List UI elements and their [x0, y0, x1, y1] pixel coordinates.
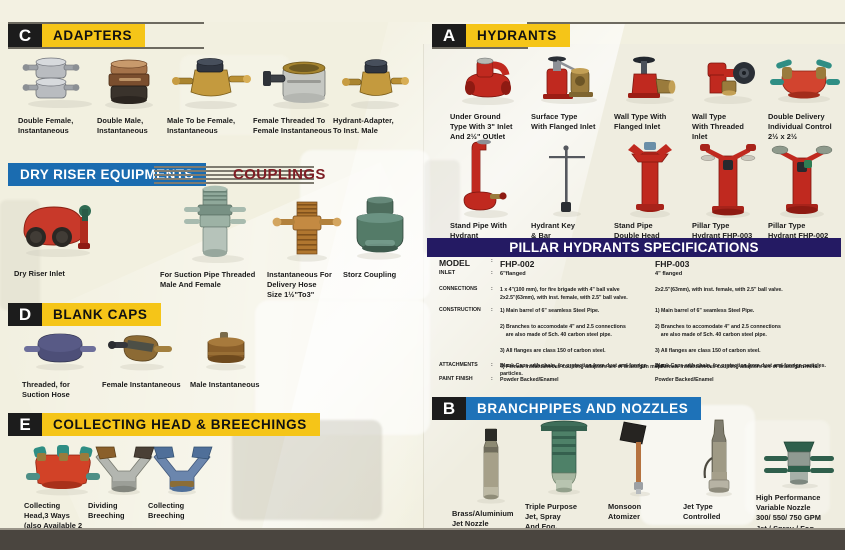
product-male-instantaneous-cap: Male Instantaneous — [190, 330, 270, 390]
product-caption-line: Delivery Hose — [267, 280, 347, 290]
section-letter-b: B — [432, 397, 466, 420]
section-header-blank-caps: D BLANK CAPS — [8, 303, 161, 326]
spec-key: INLET — [439, 270, 491, 279]
product-caption-line: Wall Type With — [614, 112, 692, 122]
coupling-suction-threaded-art — [160, 185, 278, 263]
section-letter-d: D — [8, 303, 42, 326]
spec-key: PAINT FINISH — [439, 376, 491, 384]
spec-colon: : — [491, 270, 500, 279]
hydrant-standpipe-double-art — [614, 138, 692, 218]
spec-right-connections: 2x2.5"(63mm), with inst. female, with 2.… — [655, 286, 783, 294]
hydrant-pillar-003-art — [692, 138, 770, 218]
product-dry-riser-inlet: Dry Riser Inlet — [14, 195, 109, 279]
section-letter-a: A — [432, 24, 466, 47]
adapters-bottom-rule — [8, 47, 204, 49]
nozzle-triple-purpose-art — [525, 418, 607, 496]
product-caption-line: Individual Control — [768, 122, 845, 132]
product-brass-aluminium-jet-nozzle: Brass/Aluminium Jet Nozzle — [452, 425, 534, 529]
product-hydrant-adapter-to-inst-male: Hydrant-Adapter, To Inst. Male — [333, 58, 418, 136]
section-letter-e: E — [8, 413, 42, 436]
hydrants-bottom-rule — [432, 47, 528, 49]
hydrant-key-bar-art — [531, 138, 611, 218]
dry-riser-inlet-art — [14, 195, 109, 257]
product-double-delivery-individual-control: Double Delivery Individual Control 2½ x … — [768, 55, 845, 143]
product-stand-pipe-double-head: Stand Pipe Double Head — [614, 138, 692, 241]
product-storz-coupling: Storz Coupling — [343, 198, 418, 280]
section-label-hydrants: HYDRANTS — [466, 24, 570, 47]
top-margin — [0, 0, 845, 22]
spec-right-inlet: 4" flanged — [655, 270, 682, 279]
product-caption-line: 300/ 550/ 750 GPM — [756, 513, 842, 523]
product-caption-line: Collecting — [148, 501, 224, 511]
product-caption-line: With Threaded — [692, 122, 770, 132]
spec-colon: : — [491, 286, 500, 302]
product-caption-line: Brass/Aluminium — [452, 509, 534, 519]
section-letter-c: C — [8, 24, 42, 47]
product-caption-line: For Suction Pipe Threaded — [160, 270, 278, 280]
product-caption-line: Double Delivery — [768, 112, 845, 122]
adapter-hydrant-art — [333, 58, 418, 110]
product-caption-line: Size 1½"To3" — [267, 290, 347, 300]
product-caption-line: Female Instantaneous — [102, 380, 182, 390]
spec-banner-title: PILLAR HYDRANTS SPECIFICATIONS — [509, 240, 759, 255]
product-caption-line: High Performance — [756, 493, 842, 503]
hydrant-underground-art — [450, 55, 530, 105]
section-header-collecting: E COLLECTING HEAD & BREECHINGS — [8, 413, 320, 436]
spec-row-paint-finish: PAINT FINISH : Powder Backed/Enamel — [439, 376, 559, 384]
spec-banner: PILLAR HYDRANTS SPECIFICATIONS — [427, 238, 841, 257]
product-caption-line: Atomizer — [608, 512, 683, 522]
product-caption-line: Instantaneous For — [267, 270, 347, 280]
blank-cap-female-art — [102, 330, 182, 370]
section-label-blank-caps: BLANK CAPS — [42, 303, 161, 326]
product-surface-type-flanged-inlet: Surface Type With Flanged Inlet — [531, 55, 613, 132]
nozzle-high-performance-art — [756, 440, 842, 488]
product-caption-line: Storz Coupling — [343, 270, 418, 280]
product-double-male-instantaneous: Double Male, Instantaneous — [97, 58, 177, 136]
nozzle-jet-controlled-art — [683, 418, 761, 496]
hydrant-wall-threaded-art — [692, 55, 770, 105]
product-female-instantaneous-cap: Female Instantaneous — [102, 330, 182, 390]
nozzle-brass-jet-art — [452, 425, 534, 503]
product-caption-line: Stand Pipe — [614, 221, 692, 231]
product-double-female-instantaneous: Double Female, Instantaneous — [18, 58, 98, 136]
nozzle-monsoon-atomizer-art — [608, 418, 683, 496]
adapter-double-female-art — [18, 58, 98, 110]
product-threaded-for-suction-hose: Threaded, for Suction Hose — [22, 330, 102, 400]
coupling-instantaneous-art — [267, 200, 347, 262]
hydrants-top-rule — [528, 22, 845, 24]
product-caption-line: Male Instantaneous — [190, 380, 270, 390]
product-caption-line: Wall Type — [692, 112, 770, 122]
product-caption-line: Jet Type — [683, 502, 761, 512]
product-wall-type-threaded-inlet: Wall Type With Threaded Inlet — [692, 55, 770, 143]
product-caption-line: Surface Type — [531, 112, 613, 122]
hydrant-surface-art — [531, 55, 613, 105]
product-caption-line: Male And Female — [160, 280, 278, 290]
blank-cap-male-art — [190, 330, 270, 370]
product-wall-type-flanged-inlet: Wall Type With Flanged Inlet — [614, 55, 692, 132]
hydrant-double-delivery-art — [768, 55, 845, 105]
product-caption-line: Flanged Inlet — [614, 122, 692, 132]
product-caption-line: Variable Nozzle — [756, 503, 842, 513]
product-caption-line: Jet, Spray — [525, 512, 607, 522]
product-caption-line: Instantaneous — [167, 126, 257, 136]
section-label-adapters: ADAPTERS — [42, 24, 145, 47]
product-caption-line: Pillar Type — [768, 221, 845, 231]
product-collecting-breeching: Collecting Breeching — [148, 443, 224, 521]
product-caption-line: Monsoon — [608, 502, 683, 512]
hydrant-wall-flanged-art — [614, 55, 692, 105]
product-caption-line: Pillar Type — [692, 221, 770, 231]
product-caption-line: Double Male, — [97, 116, 177, 126]
adapter-double-male-art — [97, 58, 177, 110]
section-label-branchpipes: BRANCHPIPES AND NOZZLES — [466, 397, 701, 420]
spec-right-paint-finish: Powder Backed/Enamel — [655, 376, 714, 384]
product-caption-line: Dry Riser Inlet — [14, 269, 109, 279]
coupling-storz-art — [343, 198, 418, 260]
product-suction-pipe-threaded-male-and-female: For Suction Pipe Threaded Male And Femal… — [160, 185, 278, 290]
product-male-to-be-female-instantaneous: Male To be Female, Instantaneous — [167, 58, 257, 136]
product-caption-line: Under Ground — [450, 112, 530, 122]
spec-row-connections: CONNECTIONS : 1 x 4"(100 mm), for fire b… — [439, 286, 628, 302]
hydrant-standpipe-art — [450, 138, 530, 218]
section-label-collecting: COLLECTING HEAD & BREECHINGS — [42, 413, 320, 436]
product-caption-line: Hydrant Key — [531, 221, 611, 231]
product-caption-line: Triple Purpose — [525, 502, 607, 512]
spec-value: 1 x 4"(100 mm), for fire brigade with 4"… — [500, 286, 628, 302]
product-caption-line: Instantaneous — [18, 126, 98, 136]
panel-divider — [423, 44, 424, 531]
product-caption-line: Instantaneous — [97, 126, 177, 136]
product-caption-line: Hydrant-Adapter, — [333, 116, 418, 126]
product-caption-line: To Inst. Male — [333, 126, 418, 136]
product-caption-line: Type With 3" Inlet — [450, 122, 530, 132]
product-caption-line: Stand Pipe With — [450, 221, 530, 231]
section-header-branchpipes: B BRANCHPIPES AND NOZZLES — [432, 397, 701, 420]
product-caption-line: Controlled — [683, 512, 761, 522]
product-caption-line: Breeching — [148, 511, 224, 521]
adapter-male-female-art — [167, 58, 257, 110]
catalog-page: C ADAPTERS — [0, 0, 845, 550]
spec-value: 6"flanged — [500, 270, 526, 279]
product-caption-line: Male To be Female, — [167, 116, 257, 126]
spec-right-attachments: Blank Caps with chain, for protection fr… — [655, 362, 826, 370]
product-stand-pipe-with-hydrant: Stand Pipe With Hydrant — [450, 138, 530, 241]
spec-colon: : — [491, 376, 500, 384]
product-jet-type-controlled: Jet Type Controlled — [683, 418, 761, 522]
footer-bar — [0, 530, 845, 550]
blank-cap-threaded-art — [22, 330, 102, 370]
spec-key: CONNECTIONS — [439, 286, 491, 302]
product-under-ground-type: Under Ground Type With 3" Inlet And 2½" … — [450, 55, 530, 143]
product-caption-line: With Flanged Inlet — [531, 122, 613, 132]
section-header-hydrants: A HYDRANTS — [432, 24, 570, 47]
product-instantaneous-for-delivery-hose: Instantaneous For Delivery Hose Size 1½"… — [267, 200, 347, 301]
spec-row-inlet: INLET : 6"flanged — [439, 270, 526, 279]
product-triple-purpose-jet-spray-fog: Triple Purpose Jet, Spray And Fog. — [525, 418, 607, 533]
collecting-breeching-art — [148, 443, 224, 495]
spec-body: MODEL : FHP-002 INLET : 6"flanged CONNEC… — [427, 258, 841, 388]
product-monsoon-atomizer: Monsoon Atomizer — [608, 418, 683, 522]
product-pillar-type-hydrant-fhp-003: Pillar Type Hydrant FHP-003 — [692, 138, 770, 241]
product-caption-line: Suction Hose — [22, 390, 102, 400]
product-caption-line: Double Female, — [18, 116, 98, 126]
product-caption-line: Threaded, for — [22, 380, 102, 390]
spec-value: Powder Backed/Enamel — [500, 376, 559, 384]
couplings-title: COUPLINGS — [233, 166, 326, 183]
product-hydrant-key-and-bar: Hydrant Key & Bar — [531, 138, 611, 241]
section-header-adapters: C ADAPTERS — [8, 24, 145, 47]
hydrant-pillar-002-art — [768, 138, 845, 218]
product-pillar-type-hydrant-fhp-002: Pillar Type Hydrant FHP-002 — [768, 138, 845, 241]
